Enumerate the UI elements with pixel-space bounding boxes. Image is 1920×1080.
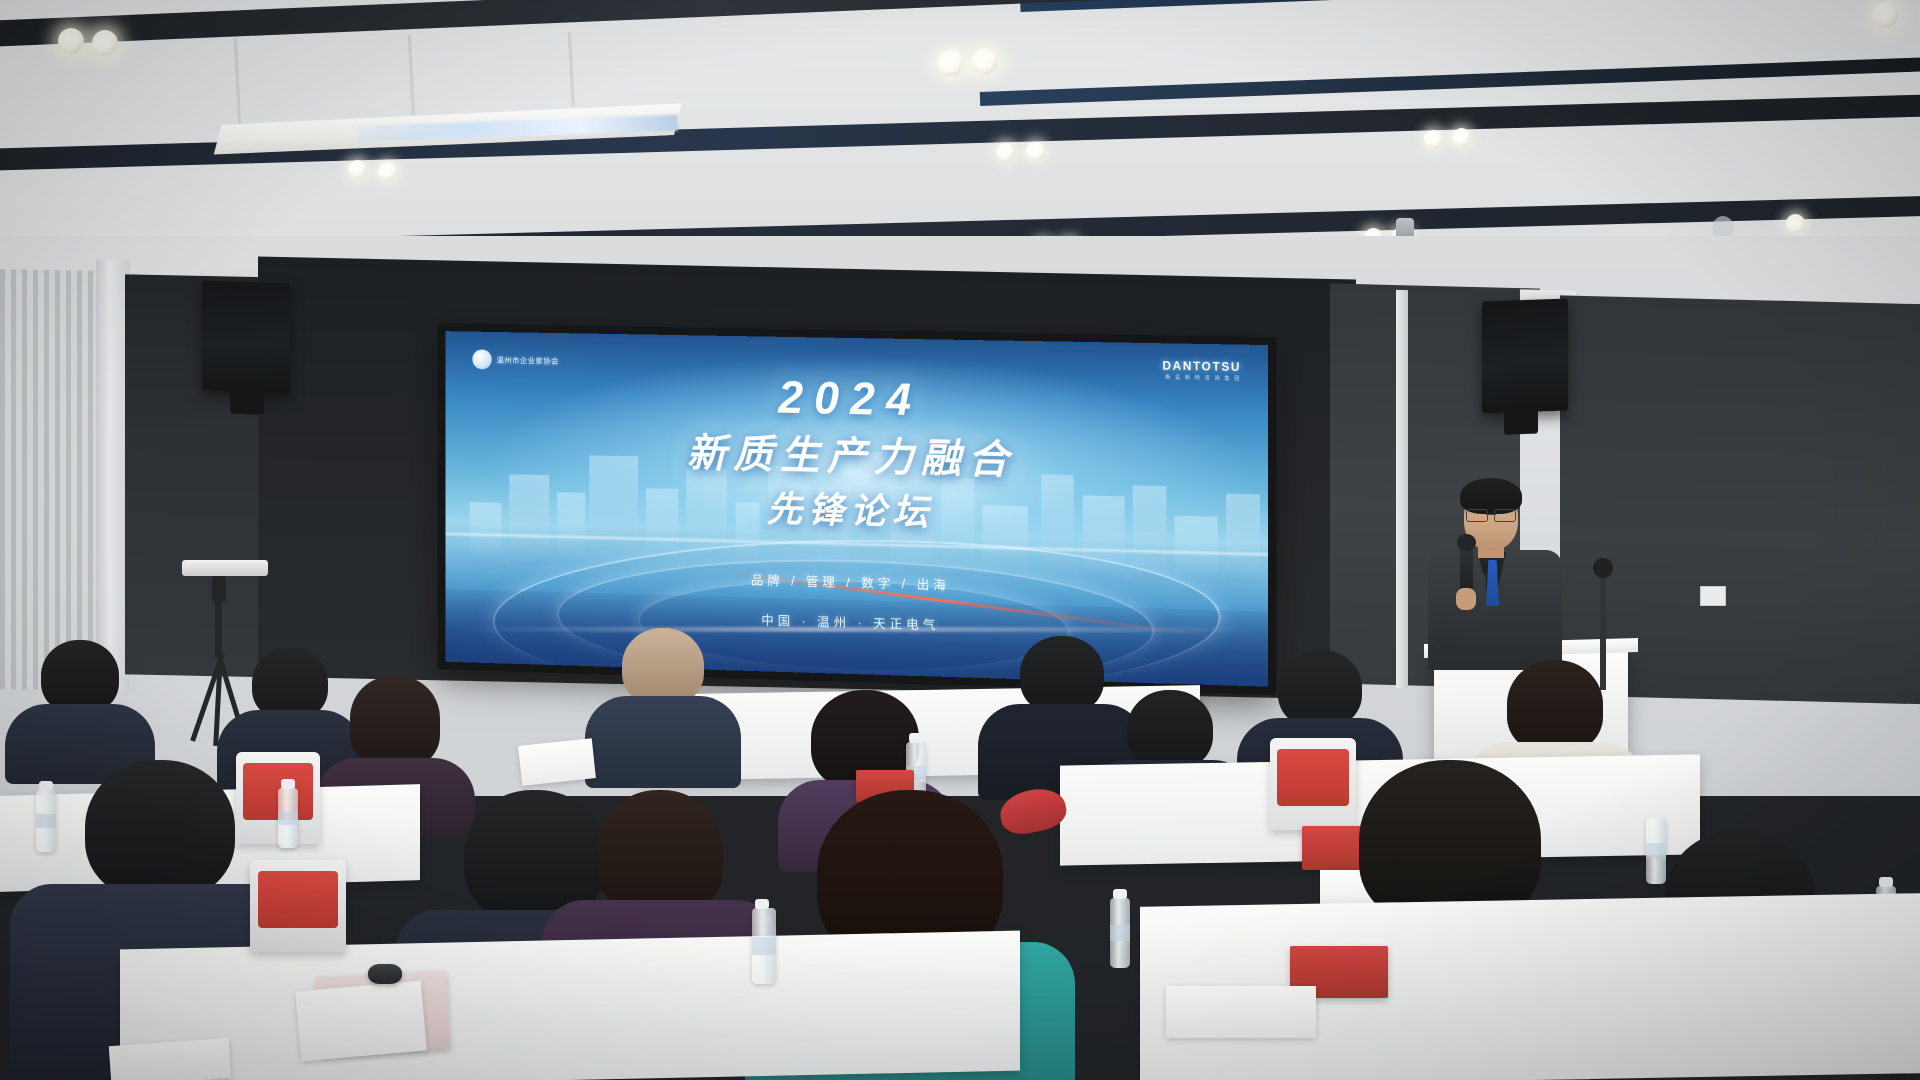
downlight-icon [938, 50, 964, 76]
downlight-icon [1452, 128, 1471, 147]
table-row [120, 931, 1020, 1080]
downlight-icon [1424, 130, 1443, 149]
screen-brand-name: DANTOTSU [1163, 361, 1242, 375]
downlight-icon [1026, 142, 1045, 161]
conference-photo: 温州市企业家协会 DANTOTSU 断 是 断 特 咨 询 集 团 2024 新… [0, 0, 1920, 1080]
glasses-icon [1466, 509, 1516, 520]
wall-socket-icon [1700, 586, 1726, 606]
audience-person [598, 628, 728, 768]
presenter [1420, 478, 1570, 668]
chair [250, 860, 346, 952]
document-paper [109, 1038, 231, 1080]
wall-grille-panel [0, 269, 98, 691]
water-bottle [1110, 898, 1130, 968]
downlight-icon [1872, 2, 1898, 28]
ceiling-channel [1019, 0, 1920, 12]
computer-mouse-icon [368, 964, 402, 984]
screen-logo-left-text: 温州市企业家协会 [497, 355, 559, 367]
audience-person [20, 640, 140, 760]
downlight-icon [92, 30, 118, 56]
downlight-icon [348, 160, 367, 179]
water-bottle [752, 908, 776, 984]
downlight-icon [1786, 214, 1805, 233]
led-screen: 温州市企业家协会 DANTOTSU 断 是 断 特 咨 询 集 团 2024 新… [445, 331, 1268, 687]
document-paper [518, 738, 596, 786]
downlight-icon [378, 162, 397, 181]
left-wall-speaker [202, 280, 290, 393]
downlight-icon [972, 48, 998, 74]
downlight-icon [58, 28, 84, 54]
downlight-icon [996, 143, 1015, 162]
right-wall-speaker [1482, 298, 1568, 413]
document-paper [295, 981, 427, 1062]
camera-icon [182, 560, 268, 576]
door-frame [1396, 290, 1408, 688]
document-paper [1166, 986, 1316, 1038]
